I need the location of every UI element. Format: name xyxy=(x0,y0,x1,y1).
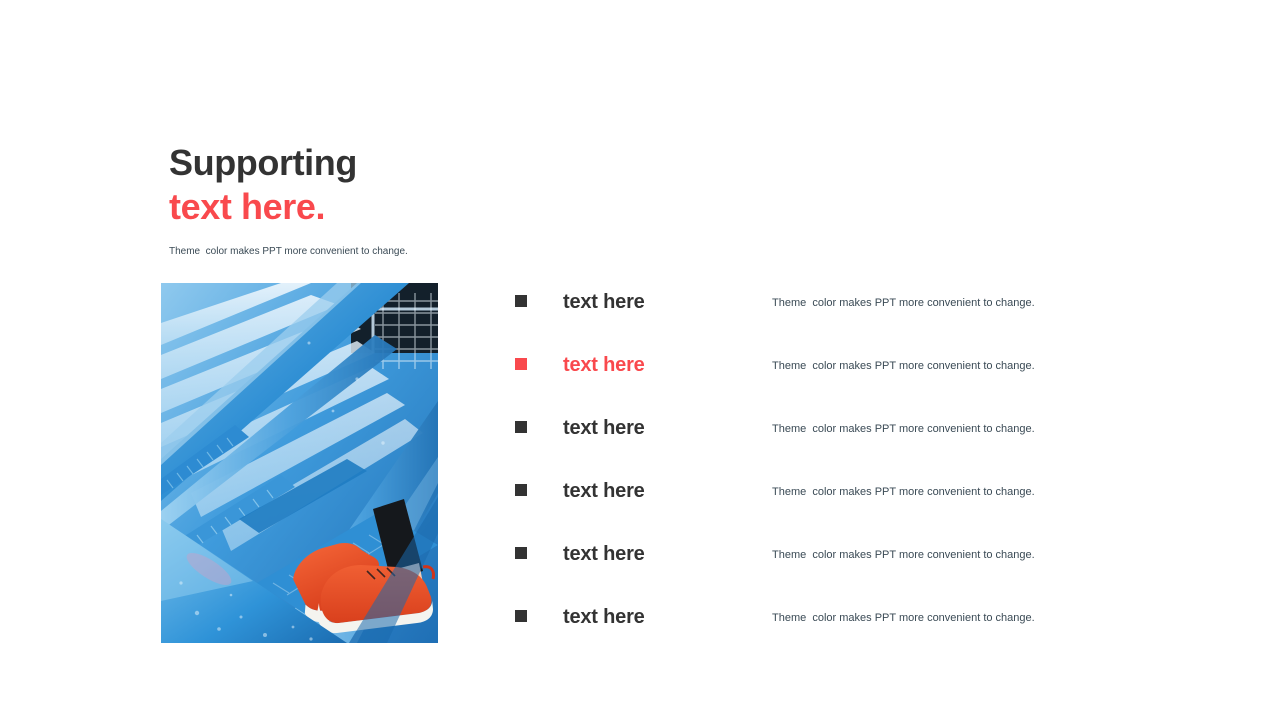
list-item[interactable]: text here Theme color makes PPT more con… xyxy=(515,604,1115,667)
list-item-title: text here xyxy=(563,289,645,315)
square-bullet-icon xyxy=(515,295,527,307)
list-item-description: Theme color makes PPT more convenient to… xyxy=(772,548,1035,563)
feature-list: text here Theme color makes PPT more con… xyxy=(515,289,1115,667)
list-item[interactable]: text here Theme color makes PPT more con… xyxy=(515,352,1115,415)
heading-block: Supporting text here. Theme color makes … xyxy=(169,141,408,259)
page-subtitle: Theme color makes PPT more convenient to… xyxy=(169,245,408,259)
list-item[interactable]: text here Theme color makes PPT more con… xyxy=(515,478,1115,541)
list-item[interactable]: text here Theme color makes PPT more con… xyxy=(515,415,1115,478)
square-bullet-icon xyxy=(515,610,527,622)
list-item[interactable]: text here Theme color makes PPT more con… xyxy=(515,289,1115,352)
list-item-title: text here xyxy=(563,352,645,378)
square-bullet-icon xyxy=(515,484,527,496)
square-bullet-icon xyxy=(515,358,527,370)
slide-canvas: Supporting text here. Theme color makes … xyxy=(0,0,1280,720)
square-bullet-icon xyxy=(515,421,527,433)
list-item-title: text here xyxy=(563,604,645,630)
page-title-line-2: text here. xyxy=(169,185,408,229)
page-title-line-1: Supporting xyxy=(169,141,408,185)
list-item-title: text here xyxy=(563,478,645,504)
list-item[interactable]: text here Theme color makes PPT more con… xyxy=(515,541,1115,604)
list-item-description: Theme color makes PPT more convenient to… xyxy=(772,296,1035,311)
square-bullet-icon xyxy=(515,547,527,559)
stairs-photo xyxy=(161,283,438,643)
stairs-photo-illustration xyxy=(161,283,438,643)
list-item-description: Theme color makes PPT more convenient to… xyxy=(772,422,1035,437)
list-item-title: text here xyxy=(563,541,645,567)
list-item-description: Theme color makes PPT more convenient to… xyxy=(772,611,1035,626)
list-item-title: text here xyxy=(563,415,645,441)
list-item-description: Theme color makes PPT more convenient to… xyxy=(772,485,1035,500)
list-item-description: Theme color makes PPT more convenient to… xyxy=(772,359,1035,374)
